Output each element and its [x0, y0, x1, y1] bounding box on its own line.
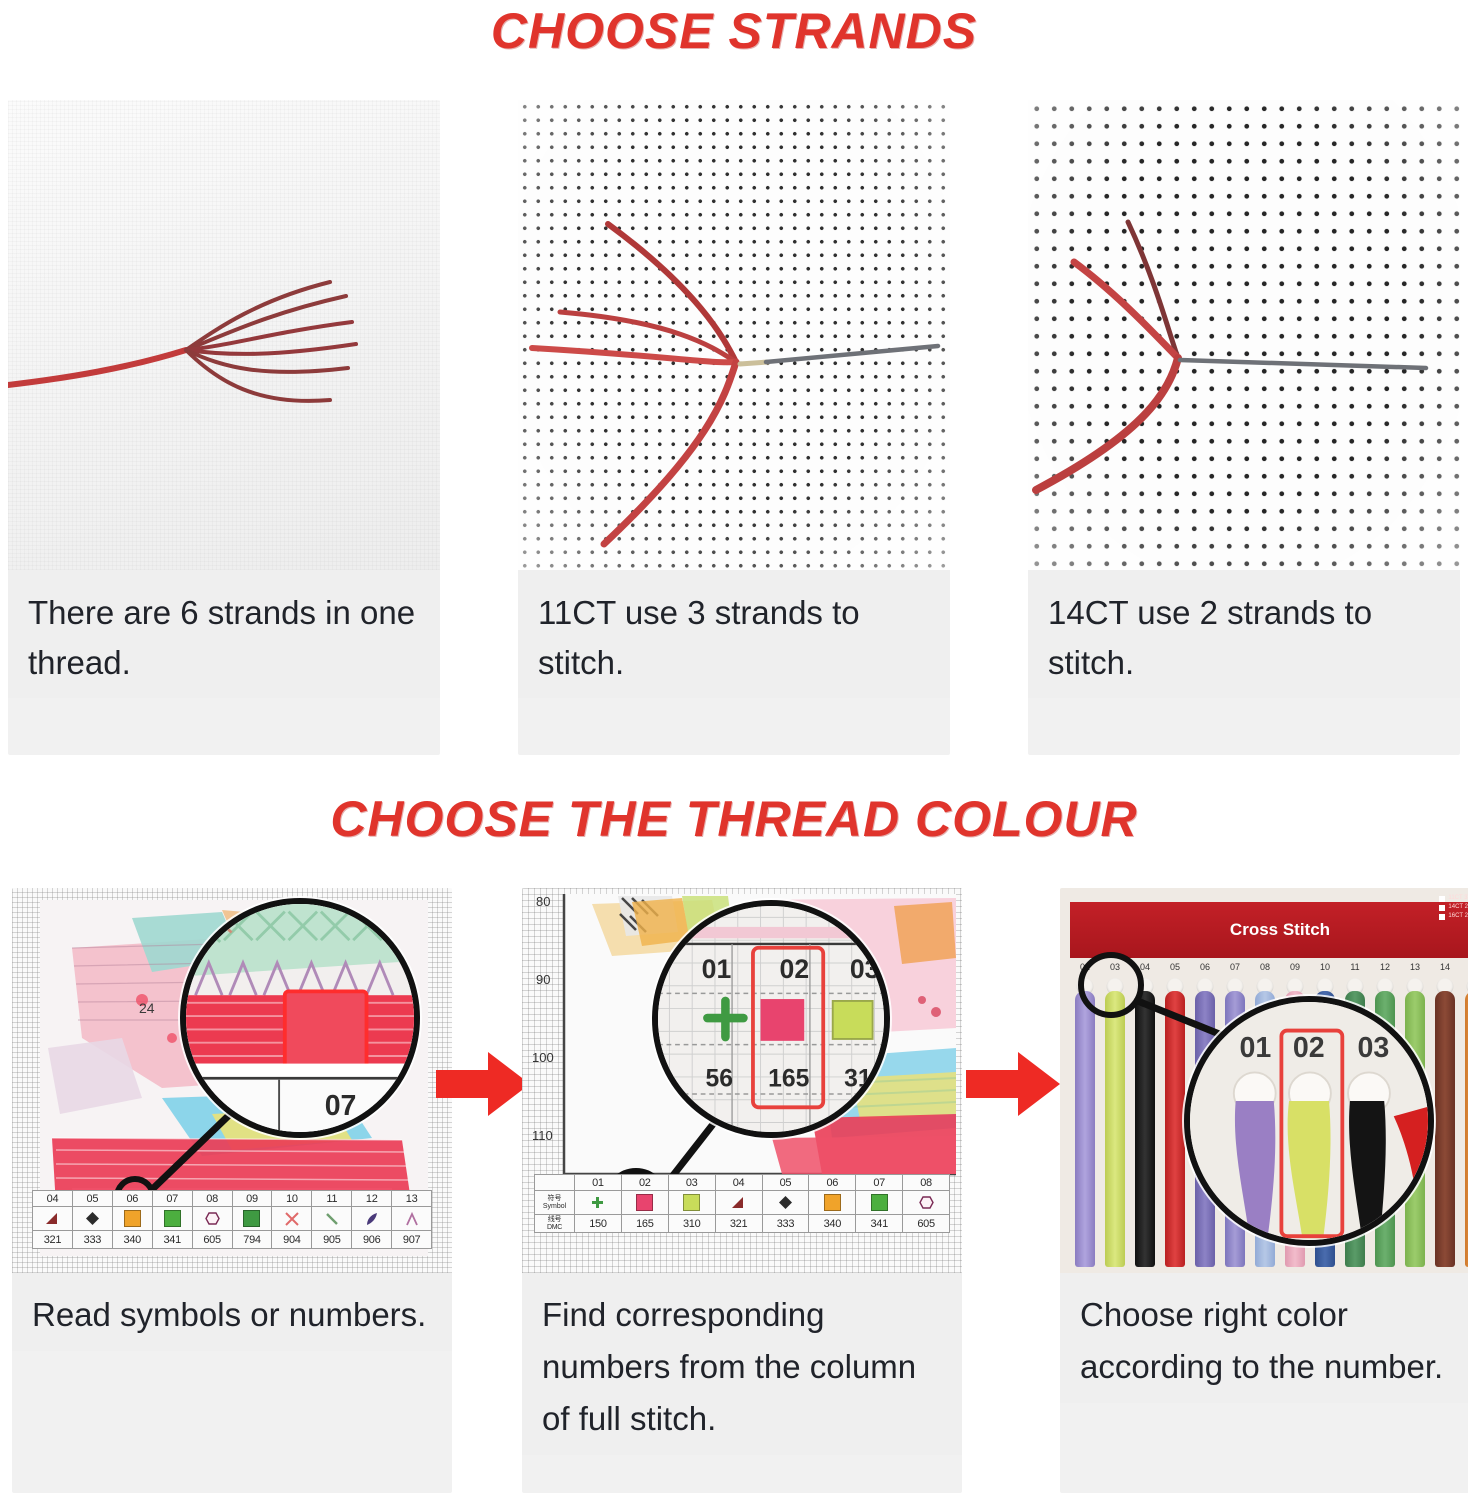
column-number: 07	[1220, 962, 1250, 978]
magnifier-lens: 01 02 03 56 165 310	[652, 900, 890, 1138]
triangle-symbol	[33, 1207, 72, 1231]
legend-number: 09	[233, 1191, 272, 1207]
photo-11ct-aida	[518, 100, 950, 570]
legend-number: 03	[669, 1175, 715, 1191]
magnifier-lens: 01 02 03	[1184, 996, 1434, 1246]
six-strands-illustration	[8, 100, 440, 570]
legend-column: 08 605	[193, 1191, 233, 1248]
column-number: 12	[1370, 962, 1400, 978]
legend-number: 07	[856, 1175, 902, 1191]
legend-number: 02	[622, 1175, 668, 1191]
thread-card-title-band: Cross Stitch	[1070, 902, 1468, 958]
diamond-symbol	[763, 1191, 809, 1215]
photo-six-strands	[8, 100, 440, 570]
thread-hank	[1460, 978, 1468, 1267]
photo-thread-card: Cross Stitch 11CT 3Threads 14CT 2Threads…	[1060, 888, 1468, 1273]
legend-dmc: 321	[33, 1231, 72, 1248]
magnified-pattern-detail: 07	[186, 904, 414, 1132]
pink-filled-square-symbol	[622, 1191, 668, 1215]
legend-number: 07	[153, 1191, 192, 1207]
legend-column: 03 310	[669, 1175, 716, 1232]
card-six-strands: There are 6 strands in one thread.	[8, 100, 440, 755]
legend-dmc: 333	[763, 1215, 809, 1232]
legend-dmc: 904	[272, 1231, 311, 1248]
legend-dmc: 906	[352, 1231, 391, 1248]
thread-count-options: 11CT 3Threads 14CT 2Threads 16CT 2Thread…	[1439, 894, 1468, 921]
legend-corner	[535, 1175, 574, 1191]
dark-green-square-symbol	[233, 1207, 272, 1231]
card-read-symbols: 07 24 12 04 321 05 333 06	[12, 888, 452, 1493]
legend-number: 10	[272, 1191, 311, 1207]
photo-full-stitch-chart: 80 90 100 110	[522, 888, 962, 1273]
card-14ct-two-strands: 14CT use 2 strands to stitch.	[1028, 100, 1460, 755]
legend-dmc: 165	[622, 1215, 668, 1232]
legend-column: 05 333	[73, 1191, 113, 1248]
legend-number: 12	[352, 1191, 391, 1207]
floss-bundle	[1165, 991, 1185, 1267]
legend-dmc: 150	[575, 1215, 621, 1232]
floss-bundle	[1135, 991, 1155, 1267]
column-number: 11	[1340, 962, 1370, 978]
legend-row-labels: 符号Symbol 线号DMC	[535, 1175, 575, 1232]
svg-text:02: 02	[1293, 1032, 1325, 1064]
x-cross-symbol	[272, 1207, 311, 1231]
three-strands-needle-illustration	[518, 100, 950, 570]
svg-text:02: 02	[780, 954, 810, 984]
svg-text:80: 80	[536, 894, 550, 909]
legend-column: 09 794	[233, 1191, 273, 1248]
option-label: 14CT 2Threads	[1448, 903, 1468, 912]
svg-text:100: 100	[532, 1050, 554, 1065]
column-number: 05	[1160, 962, 1190, 978]
green-plus-symbol	[575, 1191, 621, 1215]
magnifier-target-circle	[1078, 952, 1144, 1018]
option-row: 16CT 2Threads	[1439, 912, 1468, 921]
svg-text:03: 03	[1358, 1032, 1390, 1064]
legend-number: 13	[392, 1191, 431, 1207]
checkbox-icon[interactable]	[1439, 896, 1445, 902]
magnified-chart-detail: 01 02 03 56 165 310	[658, 906, 884, 1132]
option-label: 16CT 2Threads	[1448, 912, 1468, 921]
legend-number: 08	[903, 1175, 949, 1191]
legend-column: 06 340	[809, 1175, 856, 1232]
legend-dmc: 321	[716, 1215, 762, 1232]
legend-number: 06	[113, 1191, 152, 1207]
legend-dmc: 340	[809, 1215, 855, 1232]
option-row: 11CT 3Threads	[1439, 894, 1468, 903]
legend-dmc: 605	[193, 1231, 232, 1248]
diamond-symbol	[73, 1207, 112, 1231]
column-number: 13	[1400, 962, 1430, 978]
legend-dmc: 341	[153, 1231, 192, 1248]
green-square-symbol	[856, 1191, 902, 1215]
arrow-right-icon-1	[436, 1050, 532, 1118]
legend-number: 01	[575, 1175, 621, 1191]
triangle-symbol	[716, 1191, 762, 1215]
legend-column: 01 150	[575, 1175, 622, 1232]
legend-number: 11	[312, 1191, 351, 1207]
hexagon-outline-symbol	[193, 1207, 232, 1231]
yellow-green-square-symbol	[669, 1191, 715, 1215]
legend-dmc: 333	[73, 1231, 112, 1248]
legend-number: 06	[809, 1175, 855, 1191]
legend-dmc: 794	[233, 1231, 272, 1248]
legend-column: 12 906	[352, 1191, 392, 1248]
caption-read-symbols: Read symbols or numbers.	[12, 1273, 452, 1351]
orange-square-symbol	[113, 1207, 152, 1231]
legend-dmc: 340	[113, 1231, 152, 1248]
magnifier-lens: 07	[180, 898, 420, 1138]
option-row: 14CT 2Threads	[1439, 903, 1468, 912]
column-number: 06	[1190, 962, 1220, 978]
legend-label-dmc: 线号DMC	[535, 1215, 574, 1232]
legend-column: 07 341	[153, 1191, 193, 1248]
column-number: 14	[1430, 962, 1460, 978]
slash-symbol	[312, 1207, 351, 1231]
legend-column: 08 605	[903, 1175, 949, 1232]
pattern-label-24: 24	[139, 1000, 155, 1016]
svg-text:165: 165	[768, 1065, 809, 1092]
symbol-legend-table: 04 321 05 333 06 340 07 341	[32, 1190, 432, 1249]
section-heading-choose-strands: CHOOSE STRANDS	[0, 0, 1468, 62]
legend-dmc: 605	[903, 1215, 949, 1232]
checkbox-icon[interactable]	[1439, 905, 1445, 911]
caption-find-numbers: Find corresponding numbers from the colu…	[522, 1273, 962, 1455]
floss-bundle	[1105, 991, 1125, 1267]
card-find-numbers: 80 90 100 110	[522, 888, 962, 1493]
legend-number: 05	[763, 1175, 809, 1191]
card-11ct-three-strands: 11CT use 3 strands to stitch.	[518, 100, 950, 755]
hexagon-outline-symbol	[903, 1191, 949, 1215]
card-choose-color: Cross Stitch 11CT 3Threads 14CT 2Threads…	[1060, 888, 1468, 1493]
magnified-number: 07	[325, 1090, 357, 1122]
thread-hank	[1430, 978, 1460, 1267]
option-label: 11CT 3Threads	[1448, 894, 1468, 903]
thread-hank	[1100, 978, 1130, 1267]
photo-14ct-aida	[1028, 100, 1460, 570]
caption-14ct: 14CT use 2 strands to stitch.	[1028, 570, 1460, 698]
legend-number: 05	[73, 1191, 112, 1207]
photo-pattern-chart: 07 24 12 04 321 05 333 06	[12, 888, 452, 1273]
svg-text:56: 56	[705, 1065, 732, 1092]
orange-square-symbol	[809, 1191, 855, 1215]
infographic-page: CHOOSE STRANDS There are 6 strands in on…	[0, 0, 1468, 1500]
thread-hank	[1130, 978, 1160, 1267]
legend-column: 13 907	[392, 1191, 431, 1248]
svg-text:01: 01	[1240, 1032, 1272, 1064]
legend-dmc: 310	[669, 1215, 715, 1232]
section-heading-choose-thread-colour: CHOOSE THE THREAD COLOUR	[0, 788, 1468, 850]
green-square-symbol	[153, 1207, 192, 1231]
svg-text:01: 01	[702, 954, 732, 984]
legend-dmc: 341	[856, 1215, 902, 1232]
legend-dmc: 905	[312, 1231, 351, 1248]
floss-bundle	[1075, 991, 1095, 1267]
svg-text:110: 110	[532, 1128, 553, 1143]
column-number: 15	[1460, 962, 1468, 978]
legend-column: 10 904	[272, 1191, 312, 1248]
legend-number: 08	[193, 1191, 232, 1207]
legend-dmc: 907	[392, 1231, 431, 1248]
magnified-thread-detail: 01 02 03	[1190, 1002, 1428, 1240]
caption-six-strands: There are 6 strands in one thread.	[8, 570, 440, 698]
legend-column: 07 341	[856, 1175, 903, 1232]
caption-11ct: 11CT use 3 strands to stitch.	[518, 570, 950, 698]
legend-column: 04 321	[716, 1175, 763, 1232]
floss-bundle	[1435, 991, 1455, 1267]
legend-column: 04 321	[33, 1191, 73, 1248]
chevron-symbol	[392, 1207, 431, 1231]
column-number: 10	[1310, 962, 1340, 978]
legend-number: 04	[33, 1191, 72, 1207]
leaf-symbol	[352, 1207, 391, 1231]
thread-hank	[1070, 978, 1100, 1267]
column-number: 08	[1250, 962, 1280, 978]
full-stitch-legend-table: 符号Symbol 线号DMC 01 150 02 165 03 310	[534, 1174, 950, 1233]
legend-column: 11 905	[312, 1191, 352, 1248]
legend-label-symbol: 符号Symbol	[535, 1191, 574, 1215]
two-strands-needle-illustration	[1028, 100, 1460, 570]
svg-text:90: 90	[536, 972, 550, 987]
thread-card-title: Cross Stitch	[1230, 920, 1330, 940]
checkbox-icon[interactable]	[1439, 914, 1445, 920]
legend-column: 06 340	[113, 1191, 153, 1248]
legend-column: 05 333	[763, 1175, 810, 1232]
legend-number: 04	[716, 1175, 762, 1191]
arrow-right-icon-2	[966, 1050, 1062, 1118]
legend-column-highlighted: 02 165	[622, 1175, 669, 1232]
caption-choose-color: Choose right color according to the numb…	[1060, 1273, 1468, 1403]
column-number: 09	[1280, 962, 1310, 978]
